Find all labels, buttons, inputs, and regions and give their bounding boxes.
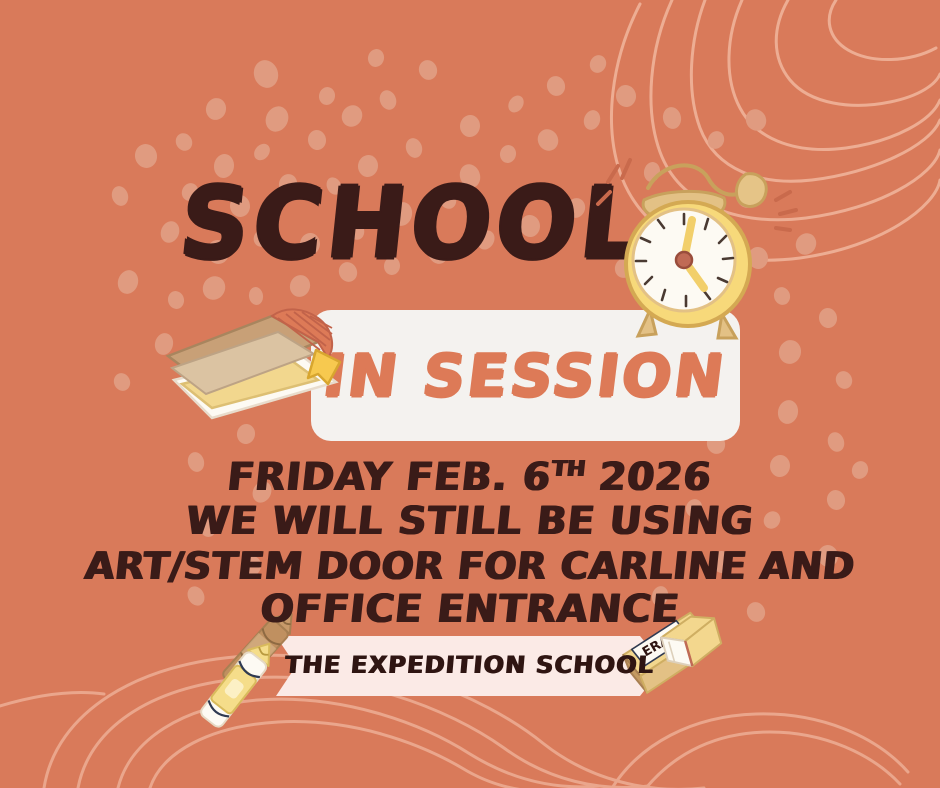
date-superscript: TH	[551, 457, 587, 482]
ribbon-label: THE EXPEDITION SCHOOL	[275, 634, 665, 696]
body-text-block: FRIDAY FEB. 6TH 2026 WE WILL STILL BE US…	[0, 448, 940, 632]
poster-canvas: SCHOOL	[0, 0, 940, 788]
body-line-date: FRIDAY FEB. 6TH 2026	[0, 448, 940, 500]
ribbon-text: THE EXPEDITION SCHOOL	[284, 651, 656, 679]
body-line-4: OFFICE ENTRANCE	[0, 588, 940, 632]
date-suffix: 2026	[582, 455, 714, 500]
body-line-3: ART/STEM DOOR FOR CARLINE AND	[0, 544, 940, 588]
in-session-card: IN SESSION	[311, 310, 740, 441]
in-session-text: IN SESSION	[321, 347, 730, 405]
body-line-2: WE WILL STILL BE USING	[0, 500, 940, 544]
date-prefix: FRIDAY FEB. 6	[225, 455, 553, 500]
